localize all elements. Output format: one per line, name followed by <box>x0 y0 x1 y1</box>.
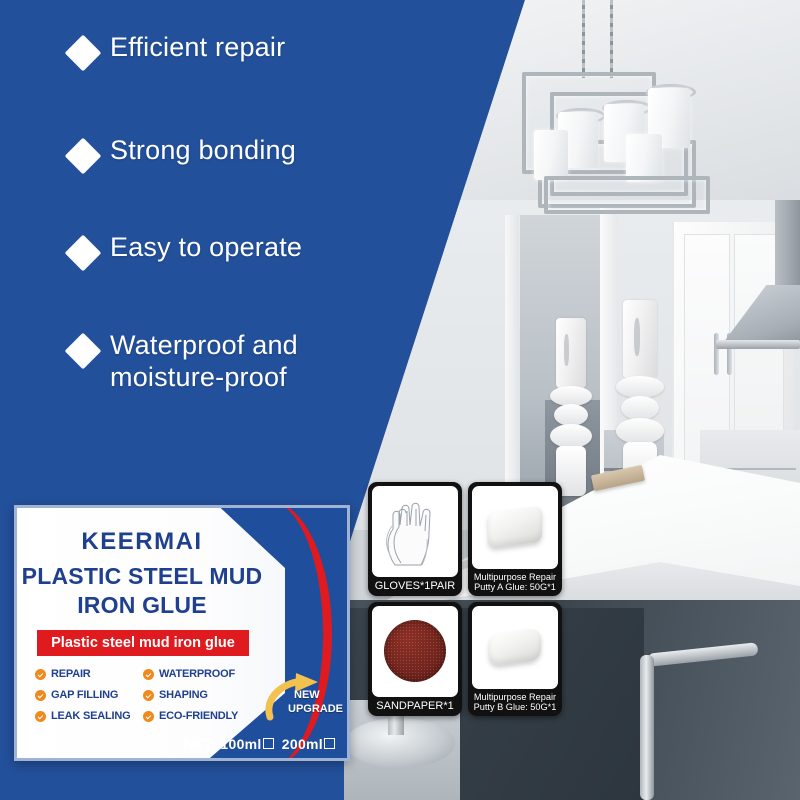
component-caption: GLOVES*1PAIR <box>368 577 462 596</box>
door-jamb-left <box>505 215 519 515</box>
component-thumbnails: GLOVES*1PAIR Multipurpose Repair Putty A… <box>368 482 562 722</box>
putty-a-icon <box>488 506 542 549</box>
check-circle-icon <box>35 711 46 722</box>
package-feature: SHAPING <box>143 689 255 701</box>
net-label: NET <box>184 736 211 752</box>
check-circle-icon <box>35 669 46 680</box>
candle-holder <box>548 318 594 508</box>
diamond-bullet-icon <box>65 235 102 272</box>
component-caption: Multipurpose Repair Putty B Glue: 50G*1 <box>468 689 562 716</box>
diamond-bullet-icon <box>65 333 102 370</box>
package-feature: GAP FILLING <box>35 689 143 701</box>
package-net-volume: NET: 100ml 200ml <box>184 736 339 752</box>
feature-label: Strong bonding <box>110 135 296 167</box>
package-banner-text: Plastic steel mud iron glue <box>51 635 235 651</box>
net-checkbox-2[interactable] <box>324 738 335 749</box>
chandelier <box>498 0 728 250</box>
feature-label: Easy to operate <box>110 232 302 264</box>
feature-item-4: Waterproof and moisture-proof <box>70 330 298 393</box>
net-option-2: 200ml <box>282 736 323 752</box>
package-feature: WATERPROOF <box>143 668 255 680</box>
advertisement-banner: Efficient repair Strong bonding Easy to … <box>0 0 800 800</box>
package-feature-label: SHAPING <box>159 689 208 701</box>
new-upgrade-badge: NEW UPGRADE <box>262 673 342 725</box>
feature-item-1: Efficient repair <box>70 32 285 66</box>
component-card-gloves: GLOVES*1PAIR <box>368 482 462 596</box>
gloves-icon <box>381 495 449 567</box>
package-brand: KEERMAI <box>17 528 267 556</box>
badge-line2: UPGRADE <box>288 703 343 715</box>
net-checkbox-1[interactable] <box>263 738 274 749</box>
package-feature-label: LEAK SEALING <box>51 710 131 722</box>
feature-item-2: Strong bonding <box>70 135 296 169</box>
check-circle-icon <box>35 690 46 701</box>
component-card-putty-b: Multipurpose Repair Putty B Glue: 50G*1 <box>468 602 562 716</box>
component-card-putty-a: Multipurpose Repair Putty A Glue: 50G*1 <box>468 482 562 596</box>
putty-b-icon <box>489 628 541 666</box>
component-image <box>372 486 458 577</box>
range-hood-lip <box>716 340 800 349</box>
package-feature: LEAK SEALING <box>35 710 143 722</box>
check-circle-icon <box>143 669 154 680</box>
feature-label: Efficient repair <box>110 32 285 64</box>
badge-line1: NEW <box>294 689 320 701</box>
package-feature: REPAIR <box>35 668 143 680</box>
package-feature-grid: REPAIR WATERPROOF GAP FILLING SHAPING LE… <box>35 668 255 722</box>
component-image <box>372 606 458 697</box>
range-hood-duct <box>775 200 800 290</box>
check-circle-icon <box>143 711 154 722</box>
package-feature-label: ECO-FRIENDLY <box>159 710 238 722</box>
package-banner: Plastic steel mud iron glue <box>37 630 249 656</box>
component-caption: Multipurpose Repair Putty A Glue: 50G*1 <box>468 569 562 596</box>
feature-label: Waterproof and moisture-proof <box>110 330 298 393</box>
product-package: KEERMAI PLASTIC STEEL MUD IRON GLUE Plas… <box>14 505 350 761</box>
diamond-bullet-icon <box>65 138 102 175</box>
package-feature: ECO-FRIENDLY <box>143 710 255 722</box>
package-feature-label: REPAIR <box>51 668 91 680</box>
bar-stool-leg <box>640 655 654 800</box>
sandpaper-icon <box>384 620 446 682</box>
package-feature-label: WATERPROOF <box>159 668 235 680</box>
net-option-1: 100ml <box>220 736 261 752</box>
diamond-bullet-icon <box>65 35 102 72</box>
package-title-line1: PLASTIC STEEL MUD <box>17 563 267 590</box>
feature-item-3: Easy to operate <box>70 232 302 266</box>
component-card-sandpaper: SANDPAPER*1 <box>368 602 462 716</box>
component-caption: SANDPAPER*1 <box>368 697 462 716</box>
feature-list: Efficient repair Strong bonding Easy to … <box>0 0 360 470</box>
package-title-line2: IRON GLUE <box>17 592 267 619</box>
check-circle-icon <box>143 690 154 701</box>
component-image <box>472 486 558 569</box>
component-image <box>472 606 558 689</box>
package-feature-label: GAP FILLING <box>51 689 118 701</box>
